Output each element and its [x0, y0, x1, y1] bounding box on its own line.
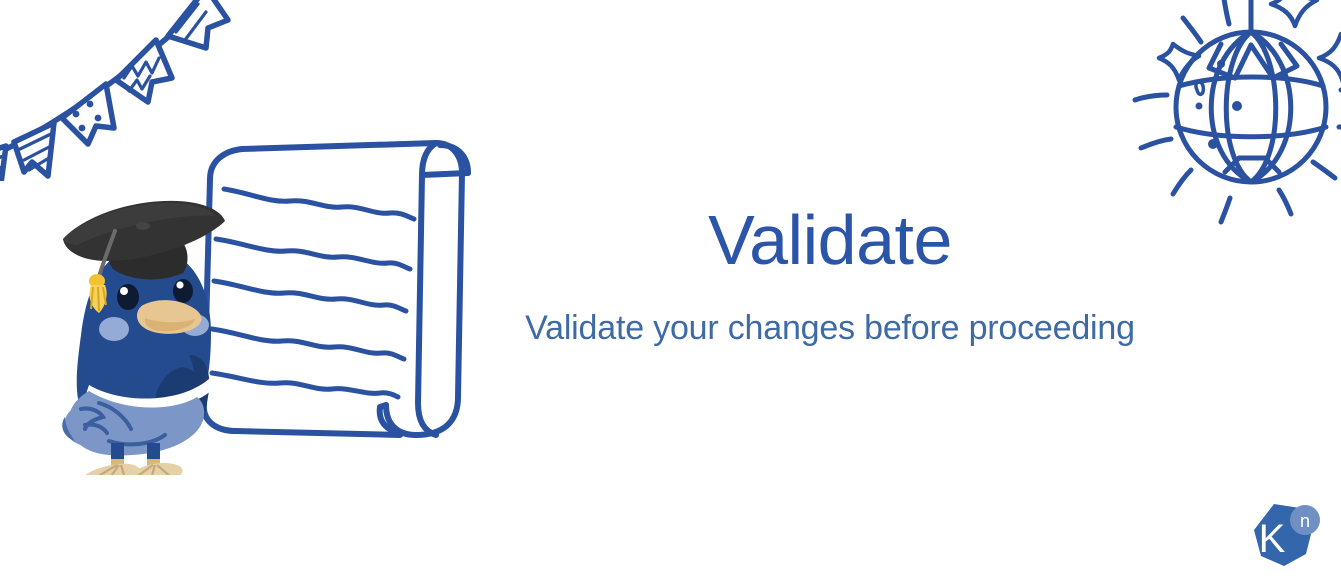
hero-text-block: Validate Validate your changes before pr…: [470, 205, 1190, 348]
logo-letter-k: K: [1259, 517, 1286, 561]
hero-illustration: [50, 130, 470, 475]
slide-canvas: Validate Validate your changes before pr…: [0, 0, 1341, 585]
brand-logo[interactable]: K n: [1248, 500, 1326, 574]
scroll-certificate-icon: [190, 135, 510, 455]
page-title: Validate: [470, 205, 1190, 275]
logo-letter-n: n: [1300, 511, 1310, 531]
page-subtitle: Validate your changes before proceeding: [470, 309, 1190, 348]
graduate-bird-mascot-icon: [55, 185, 235, 475]
disco-ball-icon: [1113, 0, 1341, 232]
